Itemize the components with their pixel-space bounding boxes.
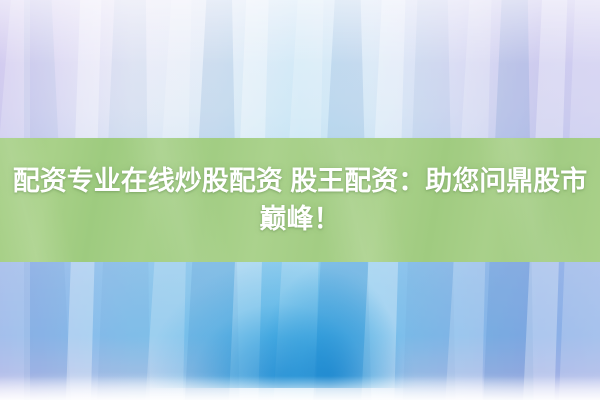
- promo-banner: 配资专业在线炒股配资 股王配资：助您问鼎股市巅峰！: [0, 0, 600, 400]
- background-top-fade: [0, 0, 600, 64]
- banner-headline: 配资专业在线炒股配资 股王配资：助您问鼎股市巅峰！: [4, 162, 596, 238]
- background-bottom-fade: [0, 376, 600, 400]
- background-blue-core-glow-inner: [252, 240, 408, 388]
- headline-band: 配资专业在线炒股配资 股王配资：助您问鼎股市巅峰！: [0, 138, 600, 262]
